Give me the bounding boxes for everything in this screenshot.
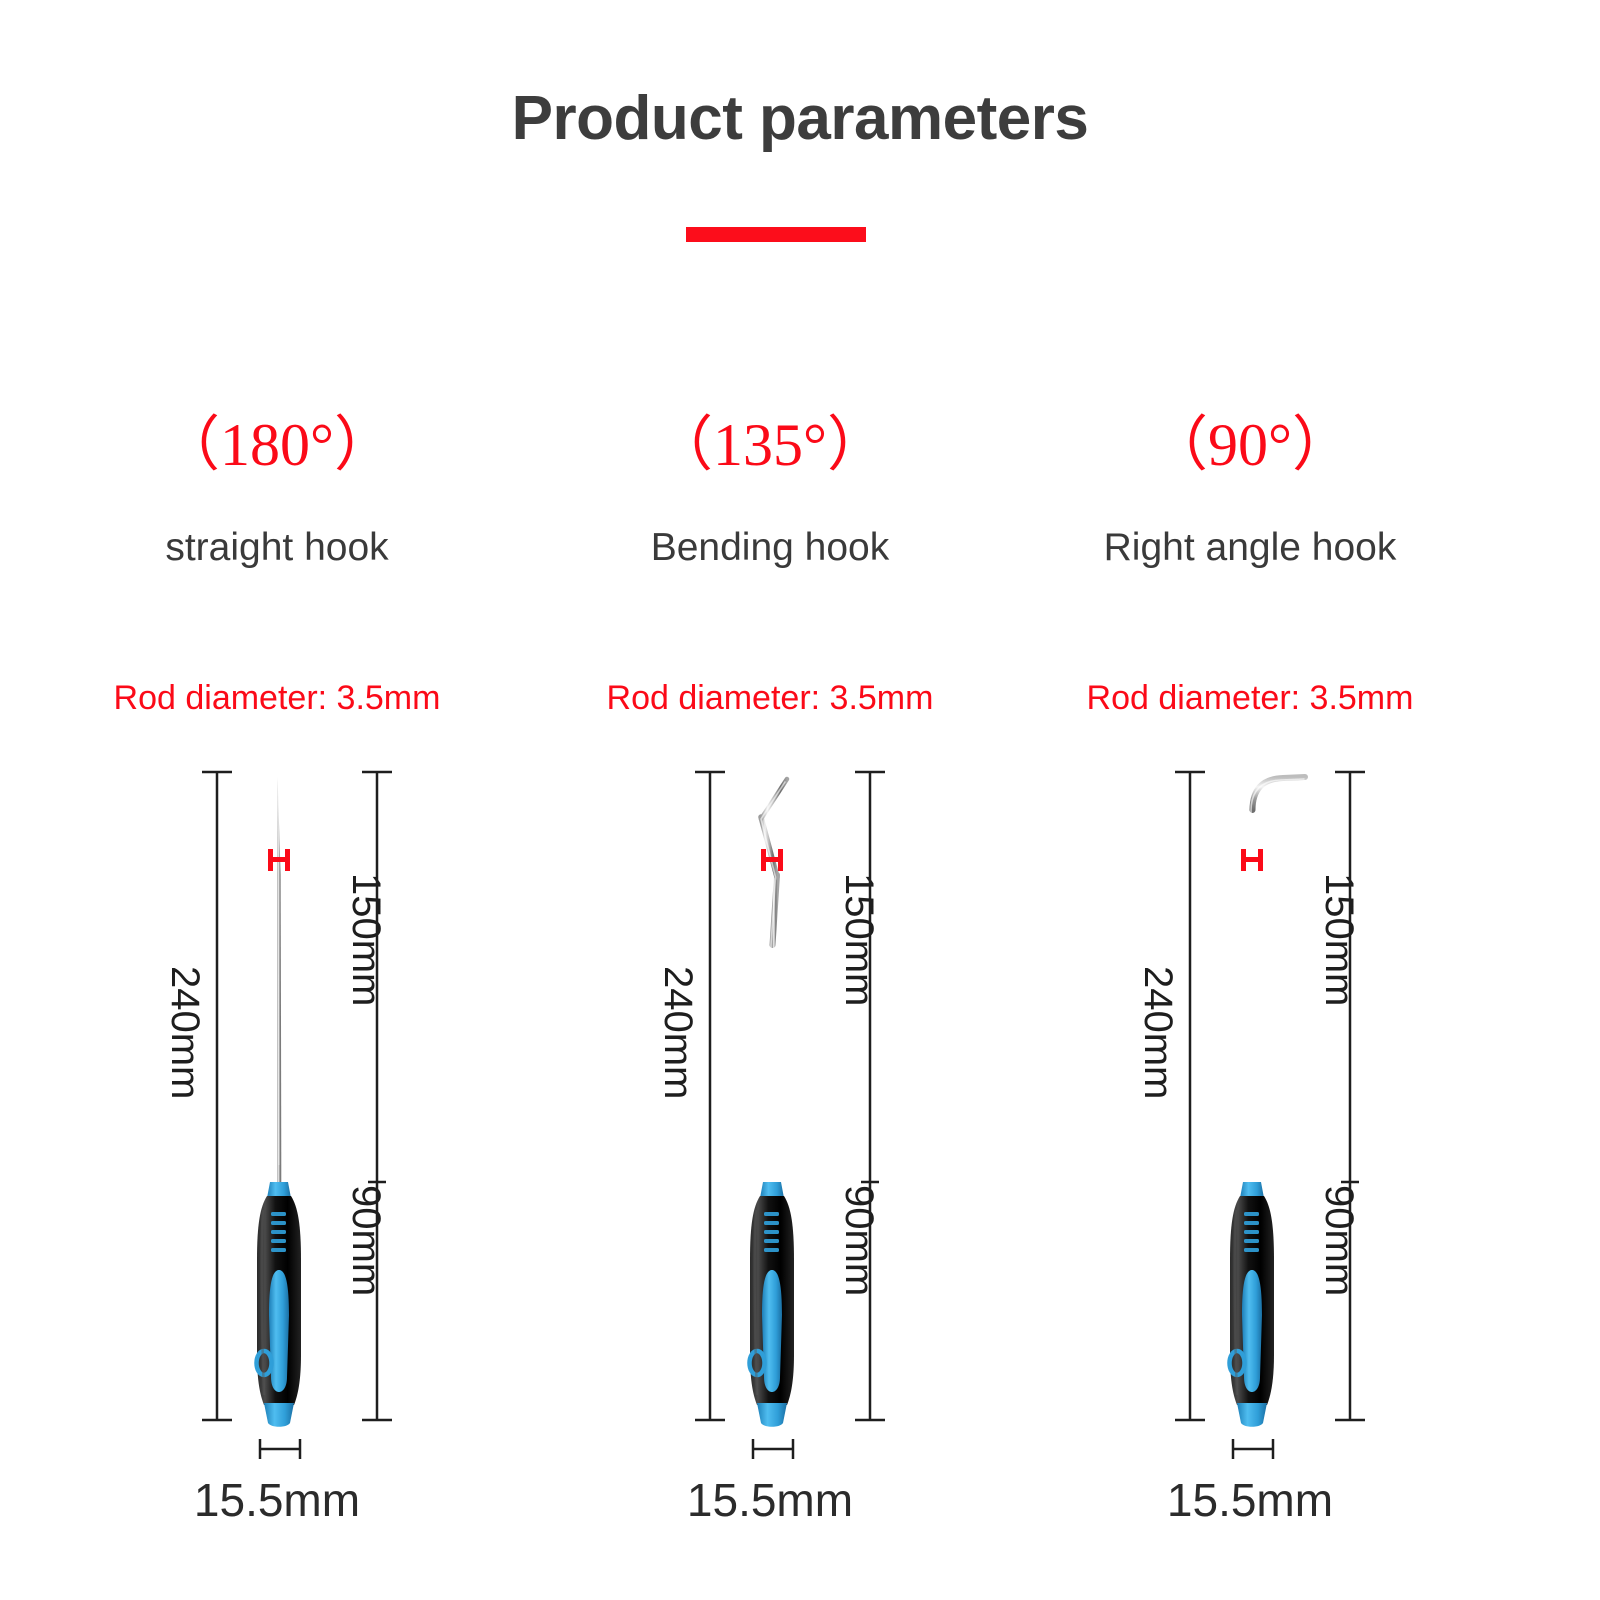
dimension-label-shaft: 150mm — [346, 873, 386, 1006]
handle-blue-inlay — [762, 1270, 782, 1392]
handle-blue-inlay — [1242, 1270, 1262, 1392]
angle-badge: （90°） — [1005, 415, 1495, 475]
dimension-label-total: 240mm — [658, 966, 698, 1099]
angle-badge: （135°） — [525, 415, 1015, 475]
tool-shaft-straight — [277, 777, 281, 1187]
product-column-right-angle-hook: （90°） Right angle hook Rod diameter: 3.5… — [1005, 0, 1495, 1600]
rod-diameter-label: Rod diameter: 3.5mm — [32, 681, 522, 715]
dimension-line-shaft-handle — [1335, 772, 1365, 1420]
dimension-label-shaft: 150mm — [839, 873, 879, 1006]
dimension-label-handle: 90mm — [346, 1185, 386, 1296]
hook-type-label: straight hook — [32, 528, 522, 567]
dimension-label-shaft: 150mm — [1319, 873, 1359, 1006]
tool-handle — [257, 1182, 302, 1427]
tool-diagram-right-angle — [1005, 755, 1495, 1475]
dimension-label-width: 15.5mm — [525, 1477, 1015, 1523]
dimension-label-handle: 90mm — [839, 1185, 879, 1296]
handle-end-cap — [1237, 1403, 1267, 1427]
handle-end-cap — [264, 1403, 294, 1427]
tool-shaft-bent-135 — [761, 779, 787, 1187]
tool-handle — [1230, 1182, 1275, 1427]
dimension-label-total: 240mm — [165, 966, 205, 1099]
dimension-line-width — [260, 1439, 300, 1459]
dimension-line-shaft-handle — [362, 772, 392, 1420]
tool-handle — [750, 1182, 795, 1427]
dimension-label-total: 240mm — [1138, 966, 1178, 1099]
dimension-line-shaft-handle — [855, 772, 885, 1420]
tool-diagram-bending — [525, 755, 1015, 1475]
dimension-label-handle: 90mm — [1319, 1185, 1359, 1296]
handle-blue-inlay — [269, 1270, 289, 1392]
angle-badge: （180°） — [32, 415, 522, 475]
dimension-line-width — [753, 1439, 793, 1459]
product-column-straight-hook: （180°） straight hook Rod diameter: 3.5mm — [32, 0, 522, 1600]
hook-type-label: Bending hook — [525, 528, 1015, 567]
dimension-line-width — [1233, 1439, 1273, 1459]
dimension-label-width: 15.5mm — [1005, 1477, 1495, 1523]
tool-shaft-right-angle — [1251, 777, 1305, 1187]
product-column-bending-hook: （135°） Bending hook Rod diameter: 3.5mm — [525, 0, 1015, 1600]
handle-end-cap — [757, 1403, 787, 1427]
hook-type-label: Right angle hook — [1005, 528, 1495, 567]
rod-diameter-label: Rod diameter: 3.5mm — [525, 681, 1015, 715]
rod-diameter-label: Rod diameter: 3.5mm — [1005, 681, 1495, 715]
tool-diagram-straight — [32, 755, 522, 1475]
dimension-label-width: 15.5mm — [32, 1477, 522, 1523]
